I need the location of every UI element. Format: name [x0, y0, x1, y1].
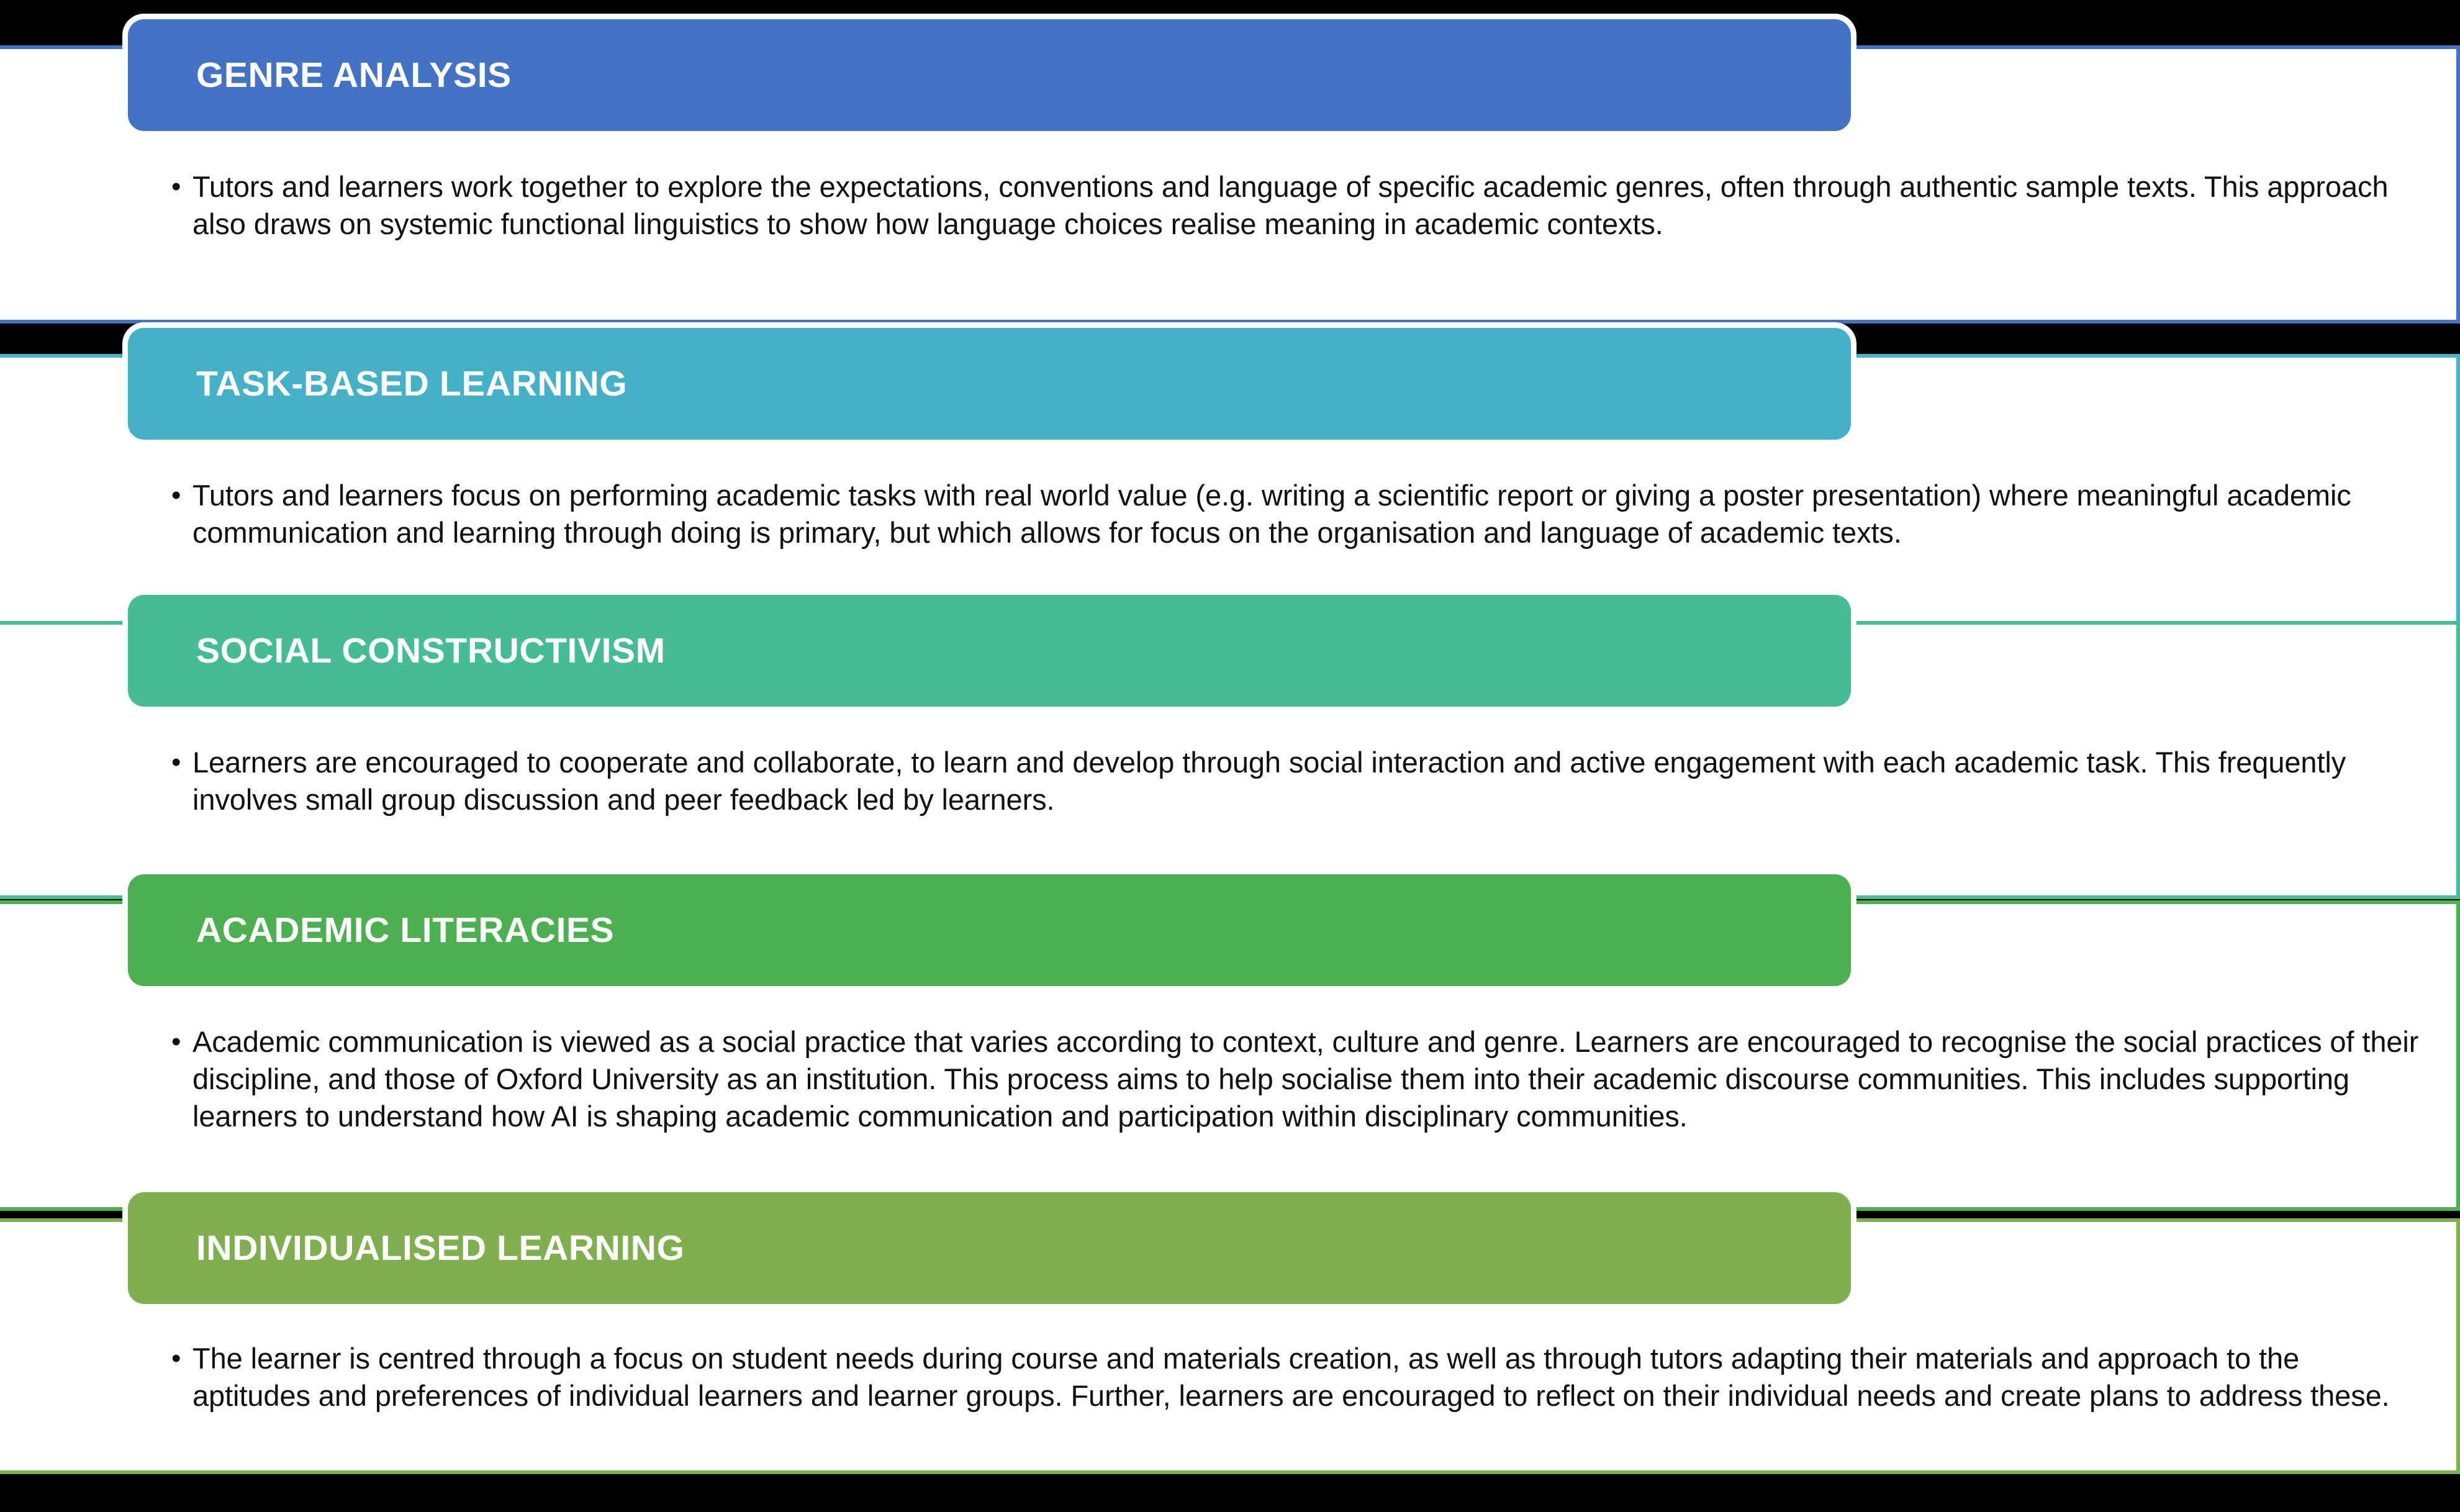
bullet-dot-icon: • [171, 744, 192, 781]
bullet-item: • Tutors and learners focus on performin… [171, 477, 2419, 551]
section-title: TASK-BASED LEARNING [128, 366, 627, 402]
header-pill-task-based-learning[interactable]: TASK-BASED LEARNING [128, 328, 1851, 440]
bullet-dot-icon: • [171, 477, 192, 514]
card-academic-literacies: ACADEMIC LITERACIES • Academic communica… [0, 900, 2460, 1211]
slide-canvas: GENRE ANALYSIS • Tutors and learners wor… [0, 0, 2460, 1512]
card-social-constructivism: SOCIAL CONSTRUCTIVISM • Learners are enc… [0, 621, 2460, 899]
section-description: Academic communication is viewed as a so… [192, 1023, 2419, 1135]
section-title: INDIVIDUALISED LEARNING [128, 1231, 685, 1266]
body-academic-literacies: • Academic communication is viewed as a … [171, 1023, 2419, 1135]
card-task-based-learning: TASK-BASED LEARNING • Tutors and learner… [0, 354, 2460, 632]
bullet-item: • The learner is centred through a focus… [171, 1340, 2419, 1415]
card-genre-analysis: GENRE ANALYSIS • Tutors and learners wor… [0, 45, 2460, 324]
section-description: Tutors and learners work together to exp… [192, 168, 2419, 243]
header-pill-academic-literacies[interactable]: ACADEMIC LITERACIES [128, 874, 1851, 986]
section-title: GENRE ANALYSIS [128, 58, 512, 93]
bullet-dot-icon: • [171, 168, 192, 206]
bullet-item: • Learners are encouraged to cooperate a… [171, 744, 2419, 818]
body-genre-analysis: • Tutors and learners work together to e… [171, 168, 2419, 243]
body-individualised-learning: • The learner is centred through a focus… [171, 1340, 2419, 1415]
section-title: SOCIAL CONSTRUCTIVISM [128, 633, 666, 669]
header-pill-individualised-learning[interactable]: INDIVIDUALISED LEARNING [128, 1192, 1851, 1304]
section-description: The learner is centred through a focus o… [192, 1340, 2419, 1415]
bullet-item: • Academic communication is viewed as a … [171, 1023, 2419, 1135]
card-individualised-learning: INDIVIDUALISED LEARNING • The learner is… [0, 1218, 2460, 1474]
header-pill-genre-analysis[interactable]: GENRE ANALYSIS [128, 19, 1851, 131]
bullet-dot-icon: • [171, 1023, 192, 1061]
section-description: Tutors and learners focus on performing … [192, 477, 2419, 551]
body-social-constructivism: • Learners are encouraged to cooperate a… [171, 744, 2419, 818]
body-task-based-learning: • Tutors and learners focus on performin… [171, 477, 2419, 551]
section-title: ACADEMIC LITERACIES [128, 913, 614, 948]
header-pill-social-constructivism[interactable]: SOCIAL CONSTRUCTIVISM [128, 595, 1851, 707]
bullet-dot-icon: • [171, 1340, 192, 1377]
bullet-item: • Tutors and learners work together to e… [171, 168, 2419, 243]
section-description: Learners are encouraged to cooperate and… [192, 744, 2419, 818]
